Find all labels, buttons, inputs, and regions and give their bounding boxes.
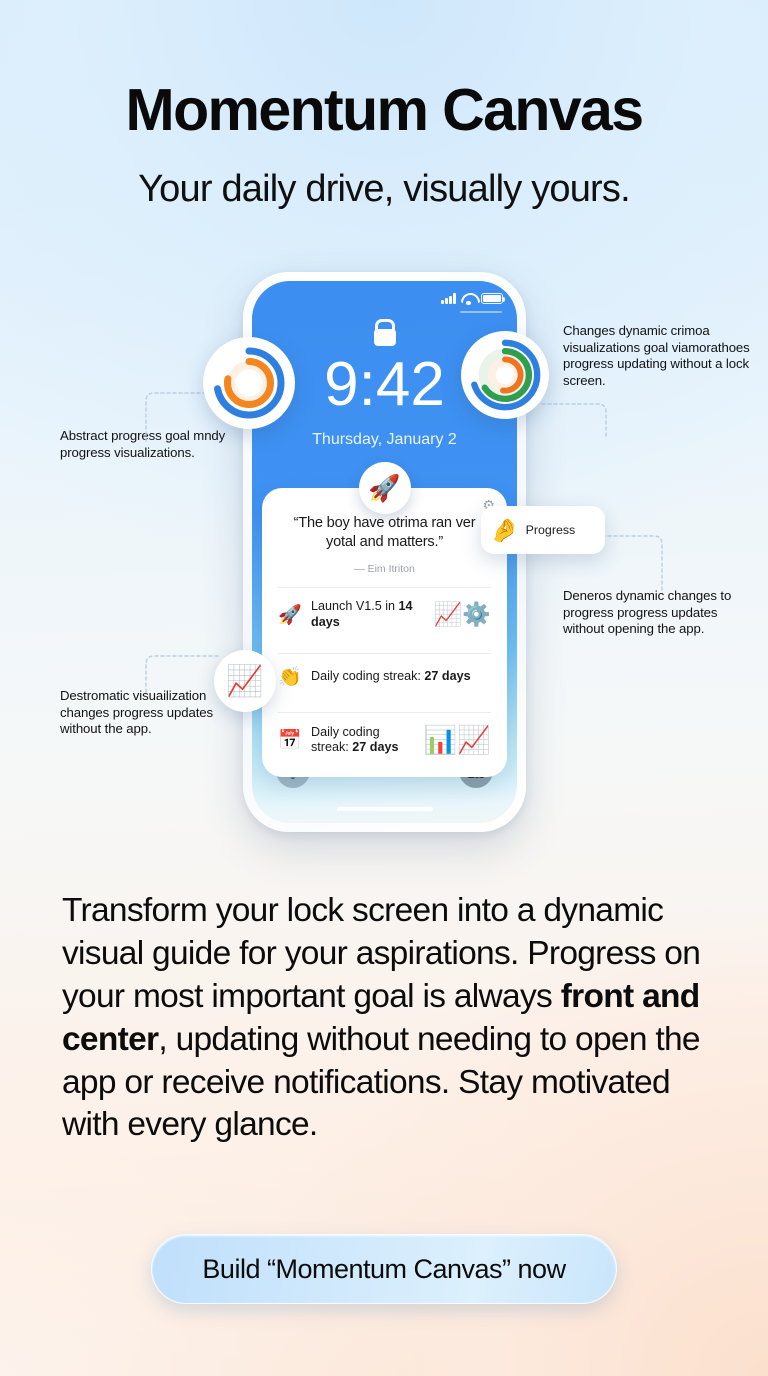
widget-row-label: Launch V1.5 in 14 days xyxy=(311,599,425,630)
status-bar-underline xyxy=(460,311,502,313)
pinched-fingers-icon: 🤌 xyxy=(490,517,519,544)
row-value: 27 days xyxy=(424,669,470,683)
progress-card-label: Progress xyxy=(526,523,576,537)
annotation-deneros-dynamic: Deneros dynamic changes to progress prog… xyxy=(563,588,755,638)
rocket-avatar-icon: 🚀 xyxy=(359,462,411,514)
lock-icon xyxy=(374,329,396,346)
widget-row[interactable]: 🚀 Launch V1.5 in 14 days 📈⚙️ xyxy=(276,588,493,641)
connector-line-right-bottom xyxy=(600,530,666,592)
pie-bar-chart-art-icon: 📊📈 xyxy=(424,724,491,756)
widget-row[interactable]: 📅 Daily coding streak: 27 days 📊📈 xyxy=(276,713,493,767)
cellular-bars-icon xyxy=(441,293,456,304)
row-text: Launch V1.5 in xyxy=(311,599,399,613)
battery-icon xyxy=(481,293,503,304)
page-title: Momentum Canvas xyxy=(0,80,768,140)
page-subtitle: Your daily drive, visually yours. xyxy=(0,168,768,211)
widget-row[interactable]: 👏 Daily coding streak: 27 days xyxy=(276,654,493,700)
progress-ring-badge-left xyxy=(203,337,295,429)
row-value: 27 days xyxy=(352,740,398,754)
body-part-2: , updating without needing to open the a… xyxy=(62,1021,700,1144)
progress-floating-card[interactable]: 🤌 Progress xyxy=(481,506,605,554)
status-bar xyxy=(441,293,503,304)
rocket-icon: 🚀 xyxy=(278,603,302,627)
quote-attribution: — Eim Itriton xyxy=(276,563,493,575)
chart-gear-art-icon: 📈⚙️ xyxy=(434,601,491,628)
cta-build-button[interactable]: Build “Momentum Canvas” now xyxy=(151,1234,617,1304)
progress-rings-left xyxy=(209,343,289,423)
annotation-changes-dynamic: Changes dynamic crimoa visualizations go… xyxy=(563,323,763,390)
progress-ring-badge-right xyxy=(461,331,549,419)
widget-row-label: Daily coding streak: 27 days xyxy=(311,669,491,685)
progress-rings-right xyxy=(466,336,544,414)
row-text: Daily coding streak: xyxy=(311,669,424,683)
connector-line-left-bottom xyxy=(140,648,220,696)
goal-widget-card[interactable]: ⚙ “The boy have otrima ran ver yotal and… xyxy=(262,488,507,777)
cta-label: Build “Momentum Canvas” now xyxy=(202,1254,565,1285)
body-paragraph: Transform your lock screen into a dynami… xyxy=(62,890,706,1147)
widget-row-label: Daily coding streak: 27 days xyxy=(311,725,415,756)
home-indicator[interactable] xyxy=(337,807,433,811)
clap-icon: 👏 xyxy=(278,665,302,689)
quote-text: “The boy have otrima ran ver yotal and m… xyxy=(276,514,493,553)
wifi-icon xyxy=(461,293,476,304)
connector-line-right-top xyxy=(540,398,610,440)
chart-increasing-badge: 📈 xyxy=(214,650,276,712)
lock-screen-date: Thursday, January 2 xyxy=(252,431,517,449)
calendar-icon: 📅 xyxy=(278,728,302,752)
